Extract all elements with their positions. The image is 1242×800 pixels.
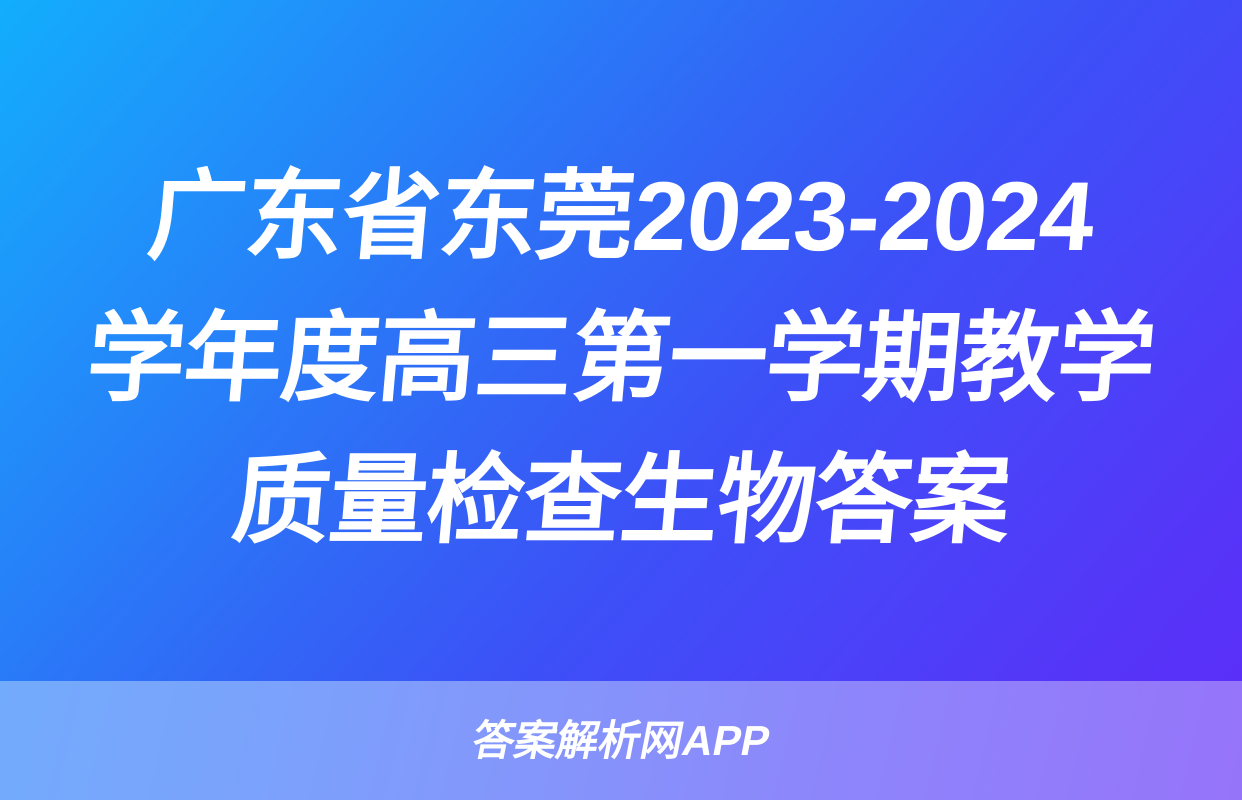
poster-title-block: 广东省东莞2023-2024 学年度高三第一学期教学 质量检查生物答案 xyxy=(0,0,1242,681)
title-line-3: 质量检查生物答案 xyxy=(0,429,1242,571)
poster-canvas: 广东省东莞2023-2024 学年度高三第一学期教学 质量检查生物答案 答案解析… xyxy=(0,0,1242,800)
title-line-2: 学年度高三第一学期教学 xyxy=(0,287,1242,429)
app-watermark-label: 答案解析网APP xyxy=(468,717,774,765)
title-line-1: 广东省东莞2023-2024 xyxy=(0,145,1242,287)
footer-watermark-area: 答案解析网APP xyxy=(0,681,1242,800)
